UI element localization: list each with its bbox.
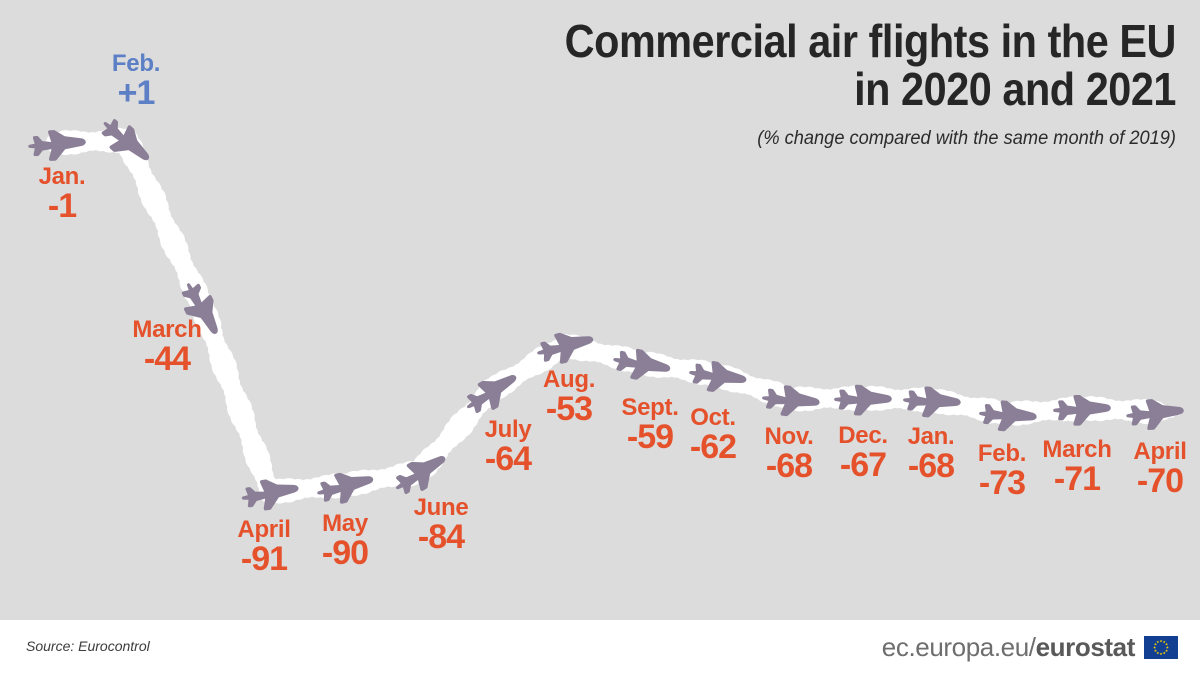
data-point-value: -53: [543, 393, 595, 426]
brand-url-plain: ec.europa.eu/: [882, 632, 1036, 662]
data-point-month: Feb.: [112, 52, 160, 76]
data-point-value: -91: [237, 543, 290, 576]
data-point-value: -68: [764, 450, 813, 483]
data-point-label: Feb.+1: [112, 52, 160, 110]
data-point-month: Feb.: [978, 442, 1026, 466]
chart-header: Commercial air flights in the EU in 2020…: [456, 18, 1176, 150]
page-title-line-2: in 2020 and 2021: [528, 66, 1176, 114]
data-point-value: -44: [132, 343, 201, 376]
data-point-value: -1: [39, 190, 86, 223]
data-point-value: -71: [1042, 463, 1111, 496]
footer-bar: Source: Eurocontrol ec.europa.eu/eurosta…: [0, 620, 1200, 677]
data-point-value: -59: [621, 421, 678, 454]
data-point-month: Aug.: [543, 368, 595, 392]
infographic-root: Jan.-1Feb.+1March-44April-91May-90June-8…: [0, 0, 1200, 677]
data-point-month: April: [1133, 440, 1186, 464]
data-point-label: April-70: [1133, 440, 1186, 498]
data-point-value: -84: [414, 521, 469, 554]
data-point-label: Jan.-68: [908, 425, 955, 483]
page-title-line-1: Commercial air flights in the EU: [528, 18, 1176, 66]
data-point-month: March: [1042, 438, 1111, 462]
data-point-value: -73: [978, 467, 1026, 500]
data-point-label: Nov.-68: [764, 425, 813, 483]
eurostat-brand[interactable]: ec.europa.eu/eurostat: [882, 632, 1178, 663]
data-point-value: -70: [1133, 465, 1186, 498]
data-point-label: Feb.-73: [978, 442, 1026, 500]
data-point-month: Nov.: [764, 425, 813, 449]
data-point-label: June-84: [414, 496, 469, 554]
data-point-label: Jan.-1: [39, 165, 86, 223]
data-point-value: -68: [908, 450, 955, 483]
eu-flag-icon: [1144, 636, 1178, 659]
brand-url-bold: eurostat: [1036, 632, 1135, 662]
brand-url[interactable]: ec.europa.eu/eurostat: [882, 632, 1135, 663]
data-point-label: July-64: [485, 418, 532, 476]
data-point-value: -67: [838, 449, 888, 482]
data-point-value: -90: [322, 537, 368, 570]
data-point-month: May: [322, 512, 368, 536]
data-point-label: March-44: [132, 318, 201, 376]
data-point-month: Jan.: [39, 165, 86, 189]
data-point-label: April-91: [237, 518, 290, 576]
source-note: Source: Eurocontrol: [26, 638, 150, 654]
data-point-month: Sept.: [621, 396, 678, 420]
data-point-label: Aug.-53: [543, 368, 595, 426]
data-point-label: May-90: [322, 512, 368, 570]
data-point-label: Oct.-62: [690, 406, 736, 464]
data-point-month: Dec.: [838, 424, 888, 448]
data-point-value: +1: [112, 77, 160, 110]
data-point-month: March: [132, 318, 201, 342]
data-point-month: Jan.: [908, 425, 955, 449]
data-point-label: March-71: [1042, 438, 1111, 496]
chart-subtitle: (% change compared with the same month o…: [485, 128, 1176, 150]
data-point-value: -62: [690, 431, 736, 464]
data-point-month: July: [485, 418, 532, 442]
data-point-value: -64: [485, 443, 532, 476]
data-point-label: Dec.-67: [838, 424, 888, 482]
data-point-label: Sept.-59: [621, 396, 678, 454]
data-point-month: April: [237, 518, 290, 542]
data-point-month: Oct.: [690, 406, 736, 430]
eu-flag-stars: [1144, 636, 1178, 659]
data-point-month: June: [414, 496, 469, 520]
